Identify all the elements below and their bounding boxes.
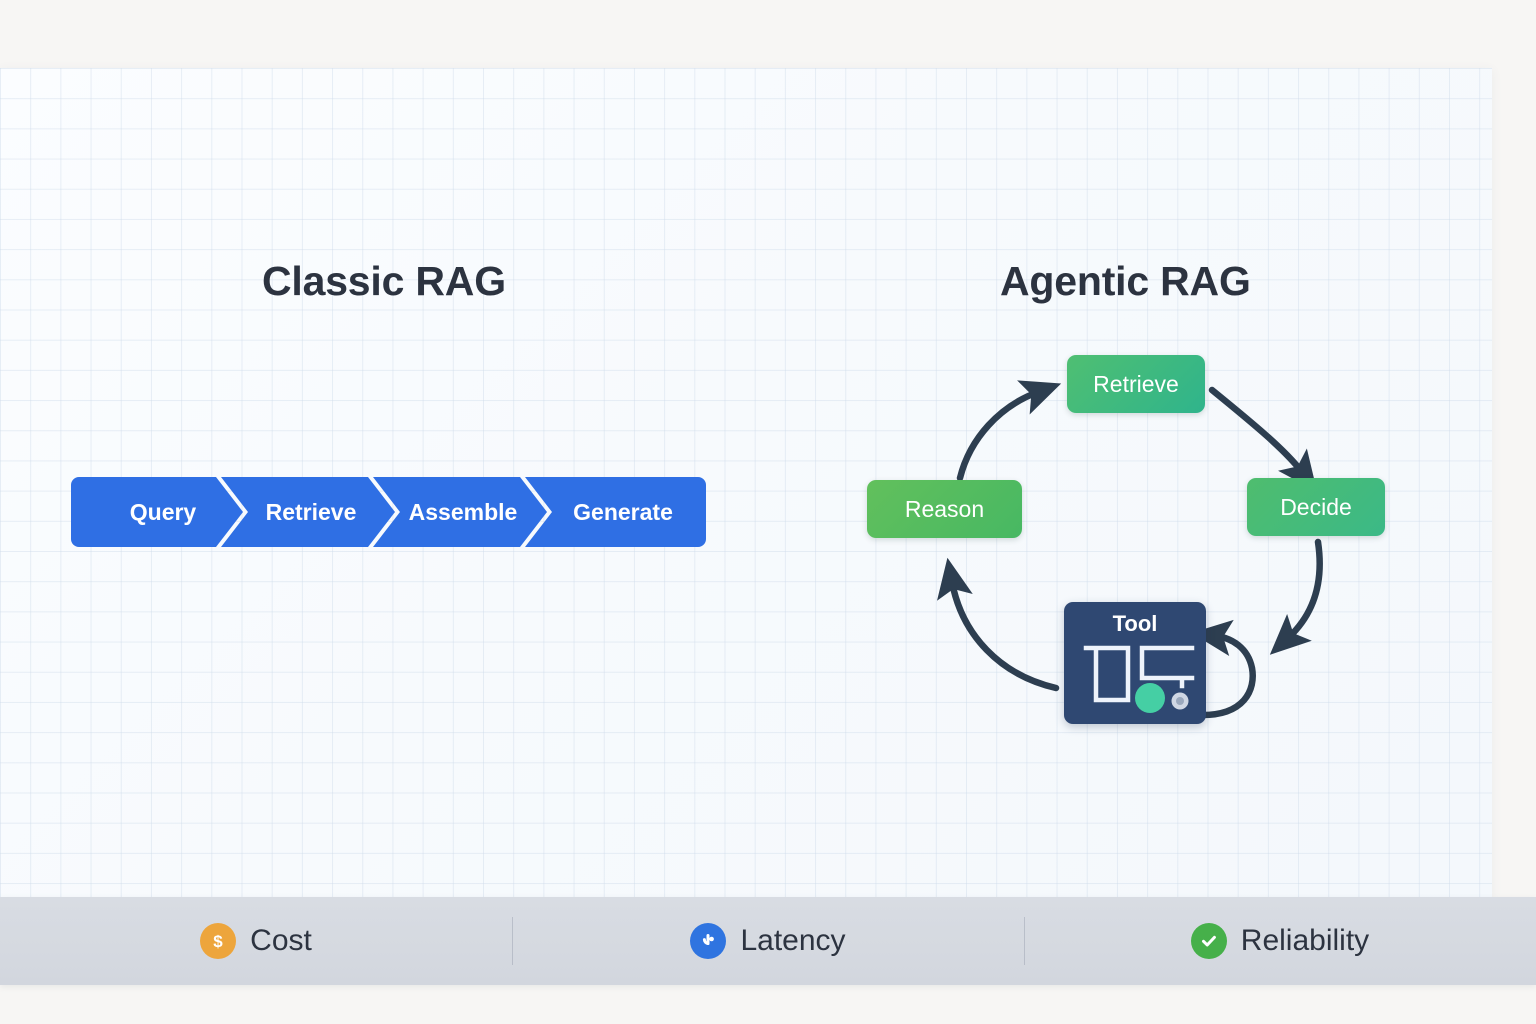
- tool-wireframe-icon: [1064, 602, 1206, 724]
- arrow-retrieve-to-decide: [1212, 390, 1302, 472]
- cycle-node-decide-label: Decide: [1280, 494, 1352, 521]
- classic-rag-pipeline: Query Retrieve Assemble Generate: [71, 477, 706, 547]
- metric-latency-label: Latency: [740, 924, 845, 958]
- cycle-node-retrieve[interactable]: Retrieve: [1067, 355, 1205, 413]
- pipeline-step-label-1: Query: [83, 477, 243, 547]
- pipeline-step-label-2: Retrieve: [231, 477, 391, 547]
- svg-text:$: $: [213, 932, 223, 951]
- arrow-decide-to-tool: [1288, 542, 1320, 638]
- pipeline-step-label-3: Assemble: [383, 477, 543, 547]
- dollar-icon: $: [200, 923, 236, 959]
- cycle-node-decide[interactable]: Decide: [1247, 478, 1385, 536]
- metric-latency[interactable]: Latency: [512, 897, 1024, 985]
- cycle-node-retrieve-label: Retrieve: [1093, 371, 1179, 398]
- diagram-canvas: Classic RAG Query Retrieve Assemble Gene…: [0, 0, 1536, 1024]
- metric-cost-label: Cost: [250, 924, 312, 958]
- agentic-rag-cycle: Retrieve Decide Reason Tool: [840, 330, 1440, 760]
- cycle-node-reason-label: Reason: [905, 496, 984, 523]
- arrow-reason-to-retrieve: [960, 392, 1038, 478]
- metric-cost[interactable]: $ Cost: [0, 897, 512, 985]
- arrow-tool-self-loop: [1200, 636, 1253, 715]
- agentic-rag-title: Agentic RAG: [1000, 258, 1251, 305]
- cycle-node-reason[interactable]: Reason: [867, 480, 1022, 538]
- check-circle-icon: [1191, 923, 1227, 959]
- metric-reliability[interactable]: Reliability: [1024, 897, 1536, 985]
- metrics-footer-bar: $ Cost Latency: [0, 897, 1536, 985]
- metrics-list: $ Cost Latency: [0, 897, 1536, 985]
- classic-rag-title: Classic RAG: [262, 258, 506, 305]
- metric-reliability-label: Reliability: [1241, 924, 1369, 958]
- pipeline-step-label-4: Generate: [543, 477, 703, 547]
- cycle-node-tool[interactable]: Tool: [1064, 602, 1206, 724]
- arrow-tool-to-reason: [952, 582, 1056, 688]
- stopwatch-icon: [690, 923, 726, 959]
